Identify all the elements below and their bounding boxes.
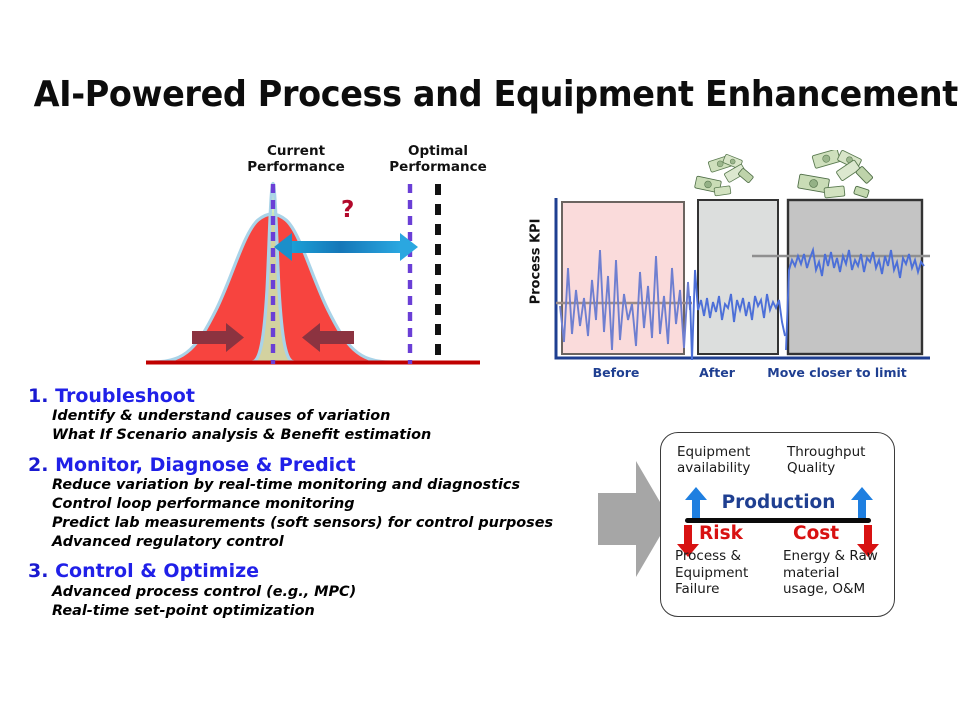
list-number-1: 1. [28, 385, 48, 407]
benefit-bottom-left-line-2: Equipment [675, 565, 748, 582]
benefit-top-right-line-2: Quality [787, 460, 865, 476]
label-current-performance: Current Performance [236, 144, 356, 176]
kpi-label-before: Before [560, 365, 672, 380]
list-group-3: 3. Control & Optimize Advanced process c… [28, 561, 618, 621]
list-number-2: 2. [28, 454, 48, 476]
variation-reduction-diagram: Current Performance Optimal Performance … [140, 140, 520, 380]
list-sub-item: What If Scenario analysis & Benefit esti… [52, 426, 618, 445]
list-sub-item: Real-time set-point optimization [52, 602, 618, 621]
list-sub-item: Advanced regulatory control [52, 533, 618, 552]
list-group-1: 1. Troubleshoot Identify & understand ca… [28, 386, 618, 446]
benefit-cost-label: Cost [793, 523, 839, 544]
list-sub-item: Advanced process control (e.g., MPC) [52, 583, 618, 602]
benefit-production-label: Production [661, 492, 896, 513]
benefit-bottom-right-line-1: Energy & Raw [783, 548, 878, 565]
bell-curve-svg [140, 140, 520, 380]
benefit-top-left-line-2: availability [677, 460, 750, 476]
benefit-top-left: Equipment availability [677, 444, 750, 477]
benefit-bottom-right-line-3: usage, O&M [783, 581, 878, 598]
label-optimal-line-1: Optimal [378, 144, 498, 160]
slide-canvas: AI-Powered Process and Equipment Enhance… [0, 0, 960, 720]
list-heading-3: 3. Control & Optimize [28, 561, 618, 582]
benefit-top-right-line-1: Throughput [787, 444, 865, 460]
benefits-summary-box: Equipment availability Throughput Qualit… [660, 432, 895, 617]
benefit-bottom-left-line-3: Failure [675, 581, 748, 598]
benefit-top-right: Throughput Quality [787, 444, 865, 477]
process-kpi-chart: Process KPI [512, 150, 952, 395]
list-group-2: 2. Monitor, Diagnose & Predict Reduce va… [28, 455, 618, 553]
label-optimal-performance: Optimal Performance [378, 144, 498, 176]
kpi-panel-after [698, 200, 778, 354]
gap-question-mark: ? [341, 197, 354, 223]
list-heading-text-1: Troubleshoot [55, 385, 195, 407]
label-current-line-2: Performance [236, 160, 356, 176]
benefit-bottom-right-line-2: material [783, 565, 878, 582]
kpi-panel-before [562, 202, 684, 354]
benefit-bottom-right: Energy & Raw material usage, O&M [783, 548, 878, 598]
list-sub-item: Reduce variation by real-time monitoring… [52, 476, 618, 495]
capability-list: 1. Troubleshoot Identify & understand ca… [28, 386, 618, 621]
label-optimal-line-2: Performance [378, 160, 498, 176]
kpi-label-move-closer-to-limit: Move closer to limit [757, 365, 917, 380]
kpi-chart-svg [512, 150, 952, 395]
page-title: AI-Powered Process and Equipment Enhance… [34, 74, 927, 115]
cash-icon-after [695, 154, 754, 196]
benefit-top-left-line-1: Equipment [677, 444, 750, 460]
list-heading-2: 2. Monitor, Diagnose & Predict [28, 455, 618, 476]
list-heading-text-2: Monitor, Diagnose & Predict [55, 454, 355, 476]
cash-icon-limit [798, 150, 874, 198]
label-current-line-1: Current [236, 144, 356, 160]
list-heading-1: 1. Troubleshoot [28, 386, 618, 407]
benefit-bottom-left-line-1: Process & [675, 548, 748, 565]
kpi-panel-limit [788, 200, 922, 354]
list-number-3: 3. [28, 560, 48, 582]
list-sub-item: Control loop performance monitoring [52, 495, 618, 514]
kpi-label-after: After [677, 365, 757, 380]
benefit-risk-label: Risk [699, 523, 743, 544]
list-sub-item: Predict lab measurements (soft sensors) … [52, 514, 618, 533]
list-heading-text-3: Control & Optimize [55, 560, 259, 582]
list-sub-item: Identify & understand causes of variatio… [52, 407, 618, 426]
benefit-bottom-left: Process & Equipment Failure [675, 548, 748, 598]
